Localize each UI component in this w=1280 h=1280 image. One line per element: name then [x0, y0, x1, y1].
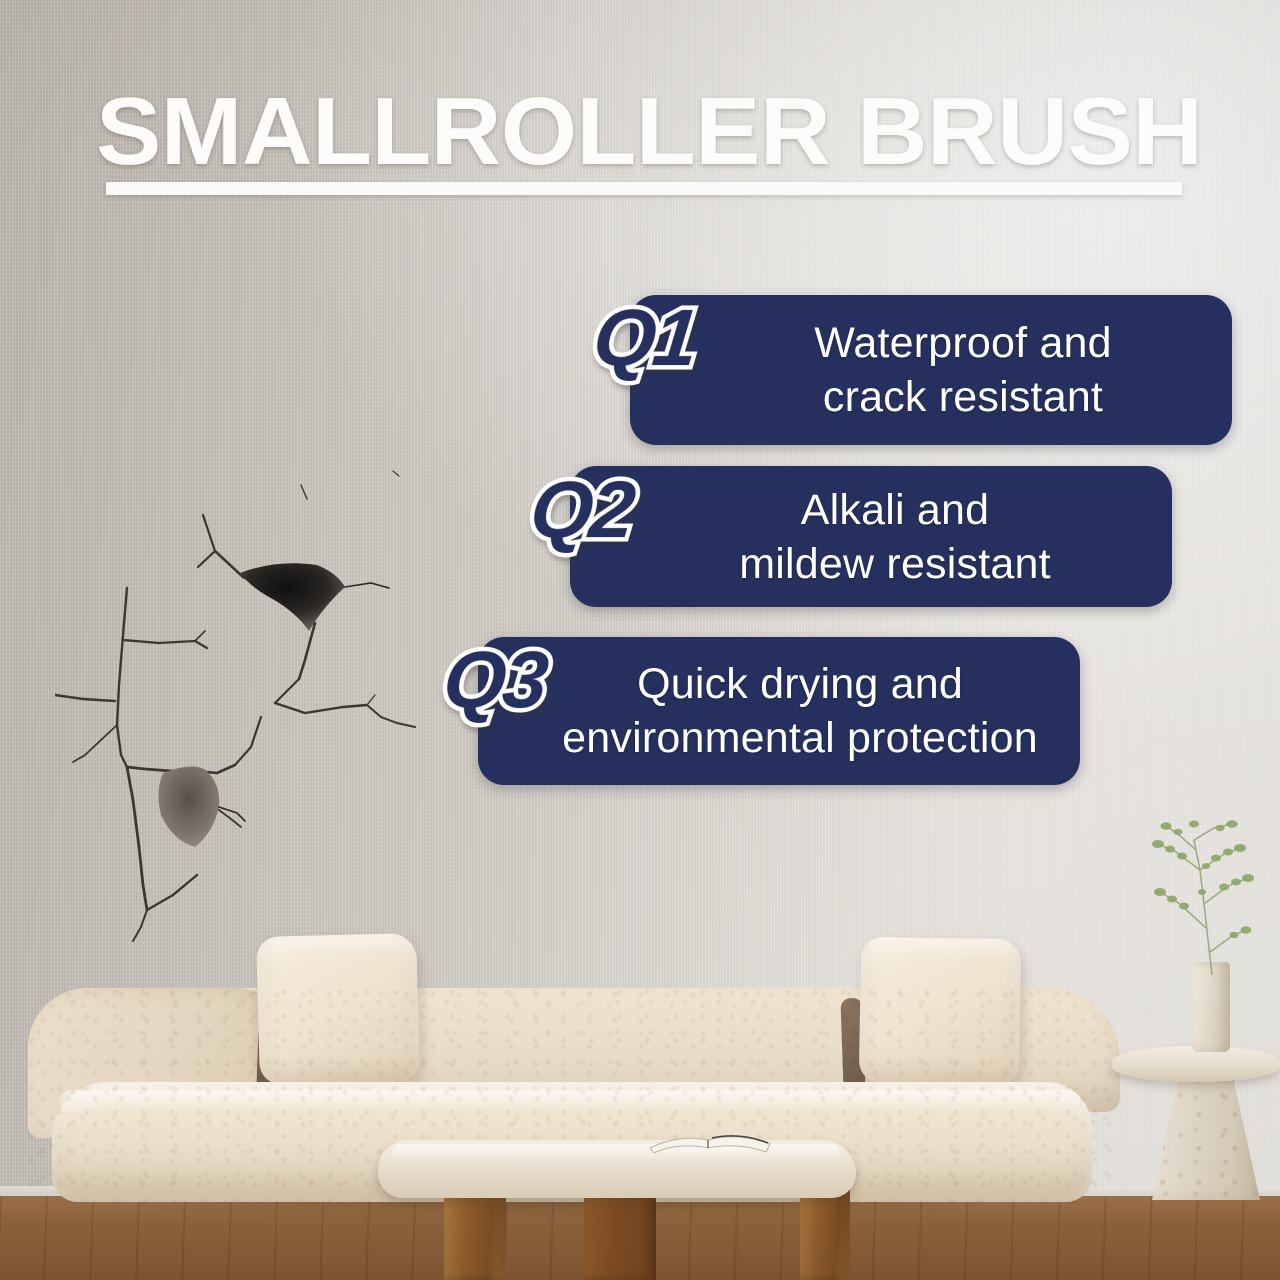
- feature-badge-q3[interactable]: Quick drying and environmental protectio…: [478, 637, 1080, 785]
- stone-vase: [1192, 962, 1230, 1052]
- coffee-table-top-highlight: [392, 1144, 840, 1162]
- crack-svg: [55, 455, 435, 955]
- feature-text-q1: Waterproof and crack resistant: [728, 316, 1134, 424]
- page-title: SMALLROLLER BRUSH: [96, 86, 1228, 178]
- crack-hole-lower: [158, 766, 219, 847]
- product-poster: SMALLROLLER BRUSH Waterproof and crack r…: [0, 0, 1280, 1280]
- feature-text-q2: Alkali and mildew resistant: [669, 483, 1072, 591]
- crack-hole-upper: [240, 563, 345, 631]
- feature-badge-q1[interactable]: Waterproof and crack resistant: [630, 295, 1232, 445]
- coffee-table-leg-left: [444, 1186, 506, 1280]
- badge-number-q2: Q2: [526, 464, 636, 556]
- feature-text-q3: Quick drying and environmental protectio…: [502, 657, 1056, 765]
- plant-svg: [1120, 800, 1280, 975]
- open-book: [648, 1128, 772, 1154]
- coffee-table-leg-right: [800, 1186, 850, 1280]
- title-underline-rule: [106, 182, 1182, 195]
- wall-crack-network: [55, 455, 435, 955]
- book-svg: [648, 1128, 772, 1154]
- green-branch-plant: [1120, 800, 1280, 975]
- feature-badge-q2[interactable]: Alkali and mildew resistant: [570, 466, 1172, 607]
- badge-number-q1: Q1: [589, 292, 699, 384]
- badge-number-q3: Q3: [439, 634, 549, 726]
- coffee-table-leg-center: [584, 1186, 656, 1280]
